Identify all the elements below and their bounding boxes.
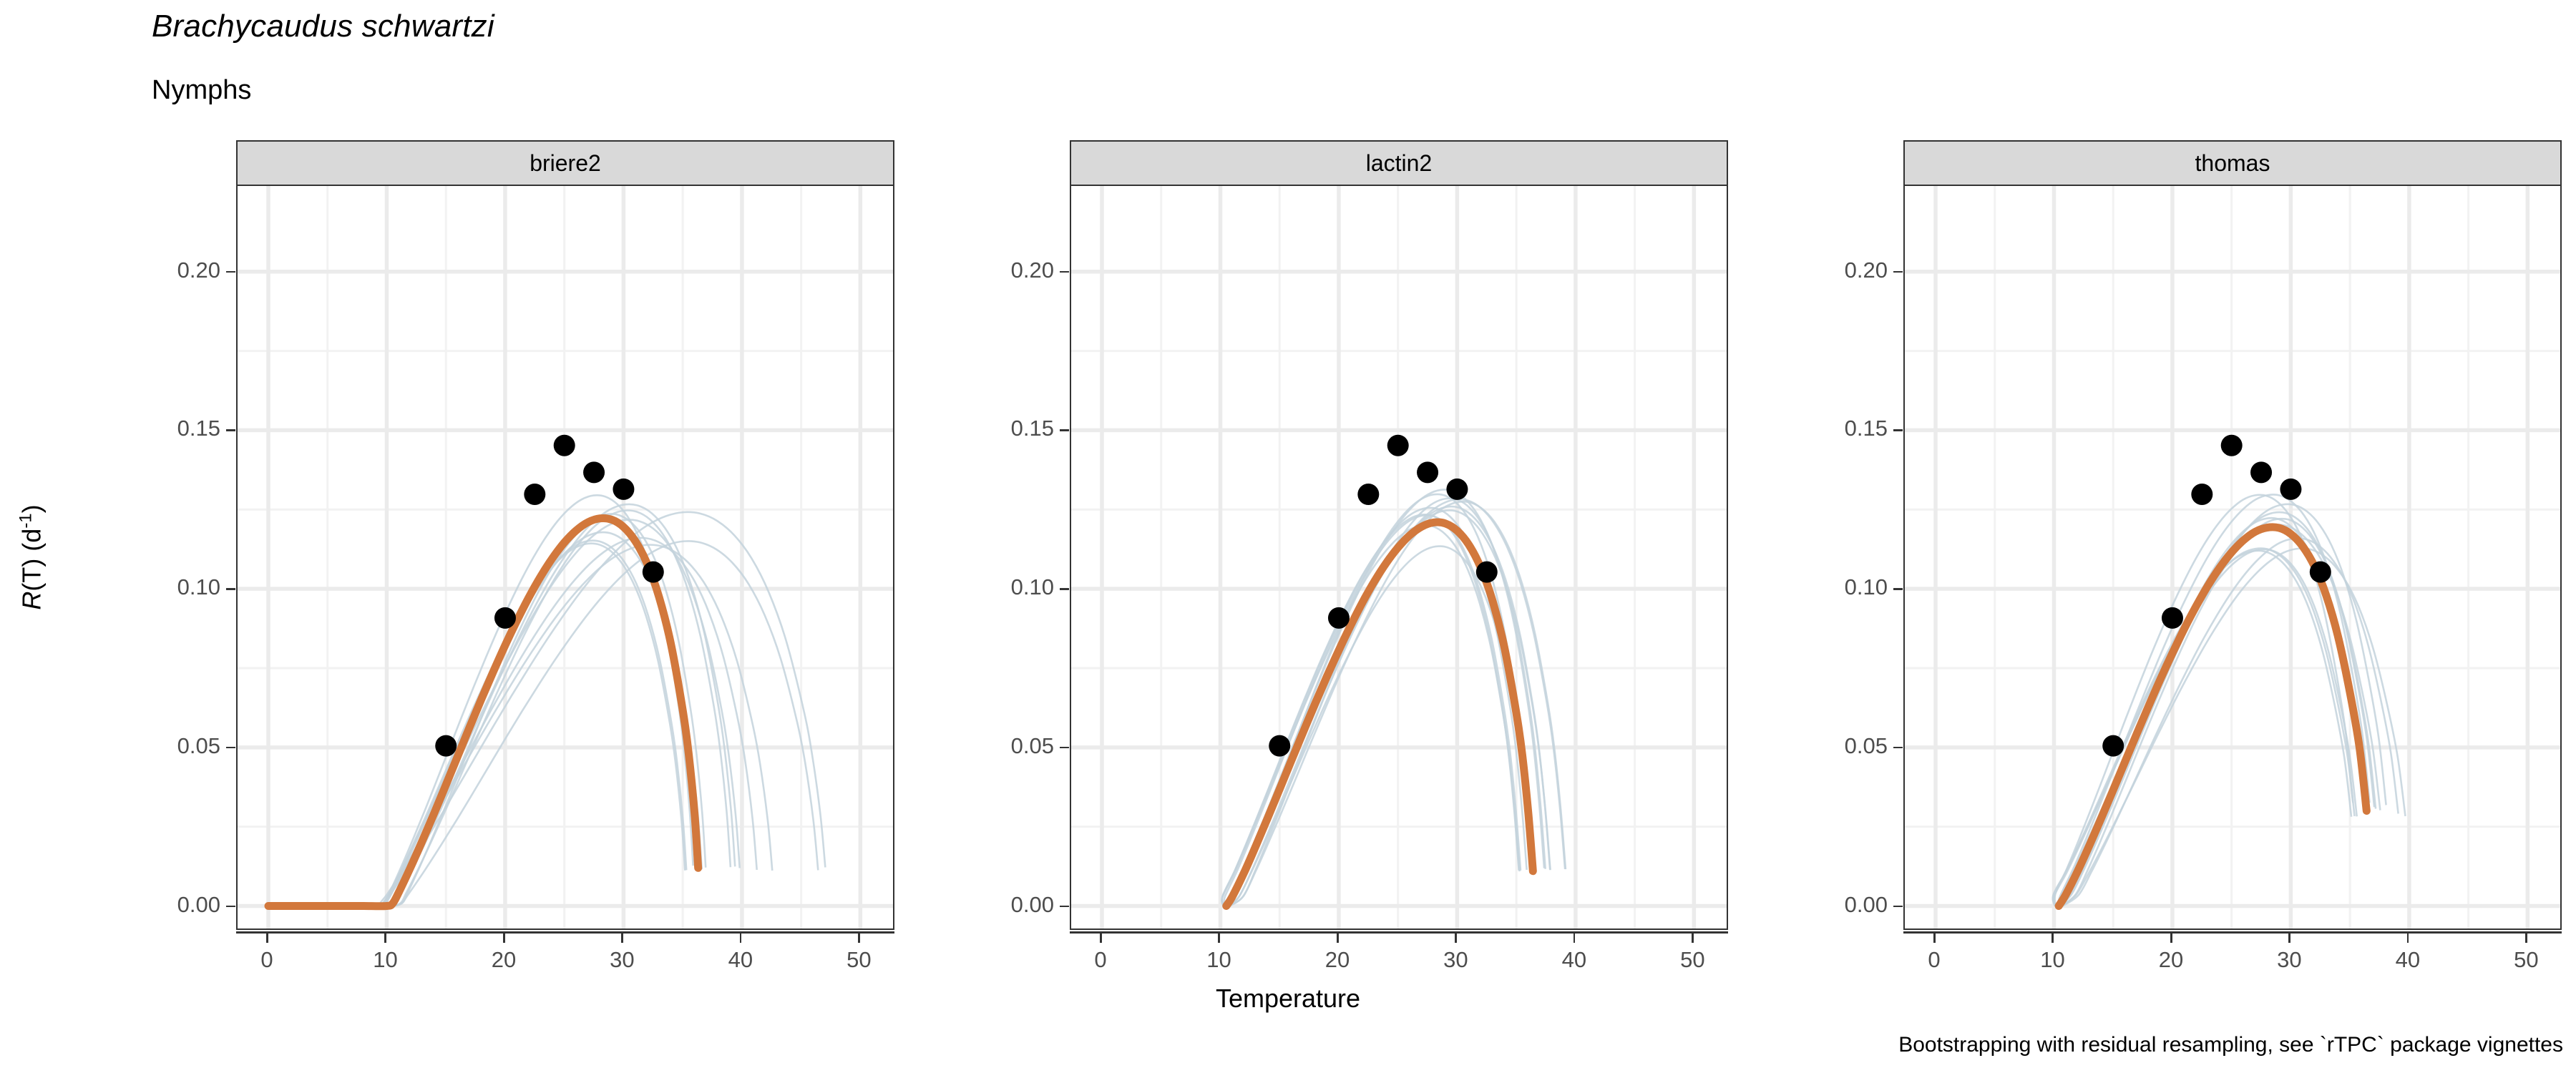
plot-caption: Bootstrapping with residual resampling, … [1898,1033,2563,1057]
plot-panel-thomas [1903,185,2562,930]
x-tick-label: 0 [224,947,310,973]
y-tick-label: 0.00 [152,892,220,918]
x-axis-line [236,931,894,934]
x-tick-label: 0 [1058,947,1143,973]
data-points [2102,435,2331,757]
y-tick-mark [226,906,235,908]
data-point [583,461,605,483]
x-tick-mark [2051,934,2054,943]
x-tick-mark [2170,934,2172,943]
data-point [1328,607,1350,629]
data-point [1357,484,1379,505]
facet-strip-label: briere2 [530,150,601,177]
data-point [524,484,545,505]
x-tick-mark [2525,934,2527,943]
bootstrap-curve [1224,515,1521,906]
facet-strip-briere2: briere2 [236,140,894,186]
data-points [435,435,664,757]
x-tick-label: 40 [698,947,784,973]
y-tick-label: 0.15 [985,416,1054,441]
x-tick-label: 50 [2483,947,2569,973]
y-tick-label: 0.20 [985,258,1054,283]
page-title: Brachycaudus schwartzi [152,9,494,44]
data-point [643,562,664,583]
x-tick-mark [266,934,268,943]
y-tick-mark [1060,747,1069,749]
y-tick-label: 0.20 [1819,258,1888,283]
y-tick-label: 0.05 [1819,733,1888,759]
data-point [1417,461,1438,483]
y-tick-mark [1060,588,1069,590]
x-tick-mark [503,934,505,943]
bootstrap-curve [1228,547,1533,906]
x-tick-label: 50 [1649,947,1735,973]
thermal-performance-curve-figure: Brachycaudus schwartzi Nymphs R(T) (d-1)… [0,0,2576,1073]
y-tick-mark [1060,906,1069,908]
y-tick-mark [1893,271,1903,273]
plot-panel-lactin2 [1070,185,1728,930]
x-axis-line [1070,931,1728,934]
y-tick-mark [226,588,235,590]
x-tick-label: 40 [1531,947,1617,973]
x-tick-mark [2288,934,2290,943]
fitted-curve [2059,527,2366,906]
data-point [494,607,516,629]
y-tick-mark [1060,271,1069,273]
y-tick-mark [1893,906,1903,908]
facet-strip-label: lactin2 [1366,150,1433,177]
data-point [2162,607,2183,629]
bootstrap-curve [1226,494,1533,906]
y-tick-mark [1893,747,1903,749]
x-tick-mark [2407,934,2409,943]
y-tick-mark [226,271,235,273]
x-tick-label: 20 [1294,947,1380,973]
data-point [2191,484,2212,505]
y-tick-mark [226,429,235,431]
y-tick-mark [1893,588,1903,590]
x-tick-mark [1574,934,1576,943]
plot-panel-briere2 [236,185,894,930]
data-point [1387,435,1409,456]
y-tick-label: 0.10 [152,574,220,600]
facet-strip-thomas: thomas [1903,140,2562,186]
x-tick-label: 30 [2246,947,2332,973]
bootstrap-curve [269,504,736,906]
x-tick-label: 50 [816,947,902,973]
x-tick-mark [858,934,860,943]
data-point [2102,735,2124,757]
bootstrap-curve [2053,551,2351,906]
x-tick-mark [1218,934,1220,943]
data-point [1476,562,1498,583]
x-tick-mark [1100,934,1102,943]
y-tick-mark [1060,429,1069,431]
data-point [2250,461,2272,483]
x-tick-label: 40 [2365,947,2451,973]
x-tick-label: 10 [342,947,428,973]
data-point [1269,735,1290,757]
x-tick-label: 30 [1413,947,1498,973]
y-tick-label: 0.15 [1819,416,1888,441]
y-tick-label: 0.15 [152,416,220,441]
data-point [554,435,575,456]
data-point [2280,479,2301,500]
x-axis-title: Temperature [0,984,2576,1014]
x-tick-mark [1337,934,1339,943]
x-tick-label: 10 [1176,947,1262,973]
x-tick-mark [740,934,742,943]
y-tick-label: 0.10 [985,574,1054,600]
y-tick-label: 0.20 [152,258,220,283]
y-tick-mark [1893,429,1903,431]
data-point [2221,435,2243,456]
y-tick-label: 0.00 [985,892,1054,918]
x-tick-label: 20 [461,947,547,973]
y-axis-title: R(T) (d-1) [16,504,47,609]
x-tick-label: 0 [1891,947,1977,973]
x-axis-line [1903,931,2562,934]
y-tick-label: 0.00 [1819,892,1888,918]
y-tick-label: 0.05 [152,733,220,759]
y-tick-label: 0.10 [1819,574,1888,600]
x-tick-label: 20 [2128,947,2214,973]
x-tick-label: 30 [579,947,665,973]
data-point [435,735,457,757]
x-tick-mark [1933,934,1936,943]
data-point [1446,479,1468,500]
data-point [613,479,634,500]
x-tick-mark [1455,934,1457,943]
data-point [2310,562,2331,583]
x-tick-mark [384,934,386,943]
y-tick-label: 0.05 [985,733,1054,759]
plot-subtitle: Nymphs [152,75,251,106]
facet-strip-label: thomas [2195,150,2270,177]
x-tick-mark [621,934,623,943]
facet-strip-lactin2: lactin2 [1070,140,1728,186]
y-tick-mark [226,747,235,749]
x-tick-label: 10 [2009,947,2095,973]
x-tick-mark [1692,934,1694,943]
